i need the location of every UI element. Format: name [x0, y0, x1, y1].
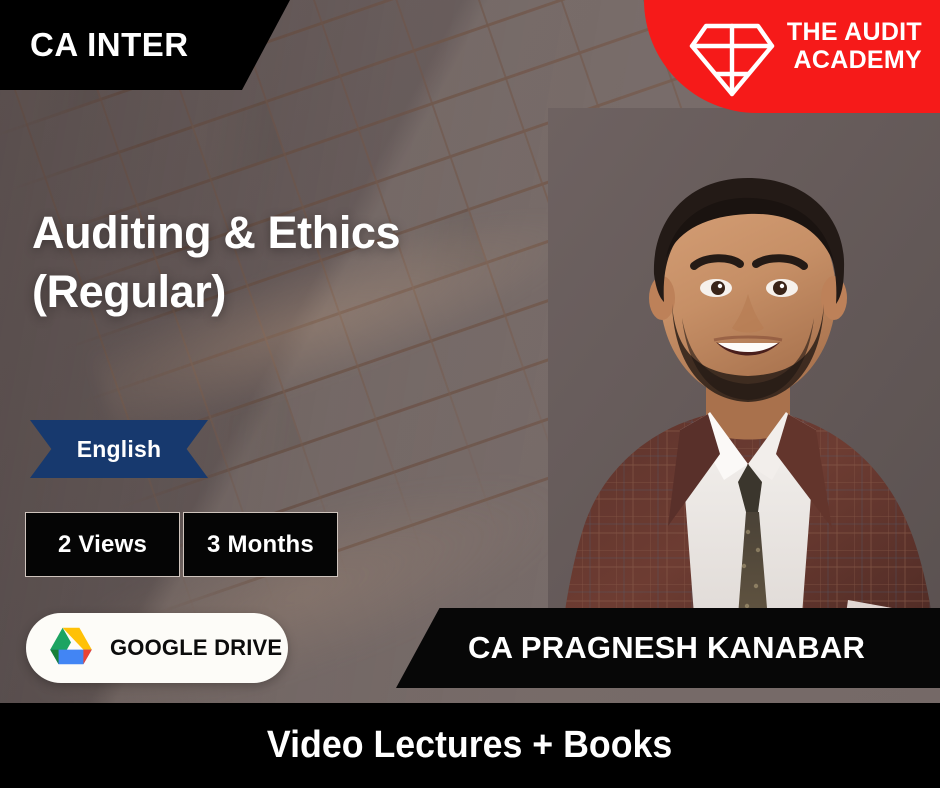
course-meta-row: 2 Views 3 Months: [25, 512, 338, 577]
language-badge: English: [30, 420, 208, 478]
language-badge-label: English: [77, 436, 161, 463]
delivery-mode-badge[interactable]: GOOGLE DRIVE: [26, 613, 288, 683]
instructor-photo: [548, 108, 940, 668]
brand-logo-panel[interactable]: THE AUDIT ACADEMY: [644, 0, 940, 113]
level-badge-label: CA INTER: [30, 26, 189, 64]
meta-box-validity: 3 Months: [183, 512, 338, 577]
footer-bar: Video Lectures + Books: [0, 703, 940, 788]
diamond-gem-icon: [686, 12, 778, 100]
instructor-name-banner: CA PRAGNESH KANABAR: [396, 608, 940, 688]
google-drive-icon: [46, 625, 96, 671]
meta-validity-label: 3 Months: [207, 531, 314, 559]
brand-line-1: THE AUDIT: [787, 18, 922, 46]
course-title-line-2: (Regular): [32, 262, 552, 321]
brand-line-2: ACADEMY: [787, 46, 922, 74]
level-badge: CA INTER: [0, 0, 290, 90]
delivery-mode-label: GOOGLE DRIVE: [110, 635, 282, 661]
course-title: Auditing & Ethics (Regular): [32, 203, 552, 322]
instructor-name-label: CA PRAGNESH KANABAR: [468, 630, 865, 666]
meta-box-views: 2 Views: [25, 512, 180, 577]
meta-views-label: 2 Views: [58, 531, 147, 559]
footer-label: Video Lectures + Books: [267, 724, 672, 767]
course-poster: CA INTER THE AUDIT ACADEMY Auditing & Et…: [0, 0, 940, 788]
brand-wordmark: THE AUDIT ACADEMY: [787, 18, 922, 74]
course-title-line-1: Auditing & Ethics: [32, 207, 400, 258]
